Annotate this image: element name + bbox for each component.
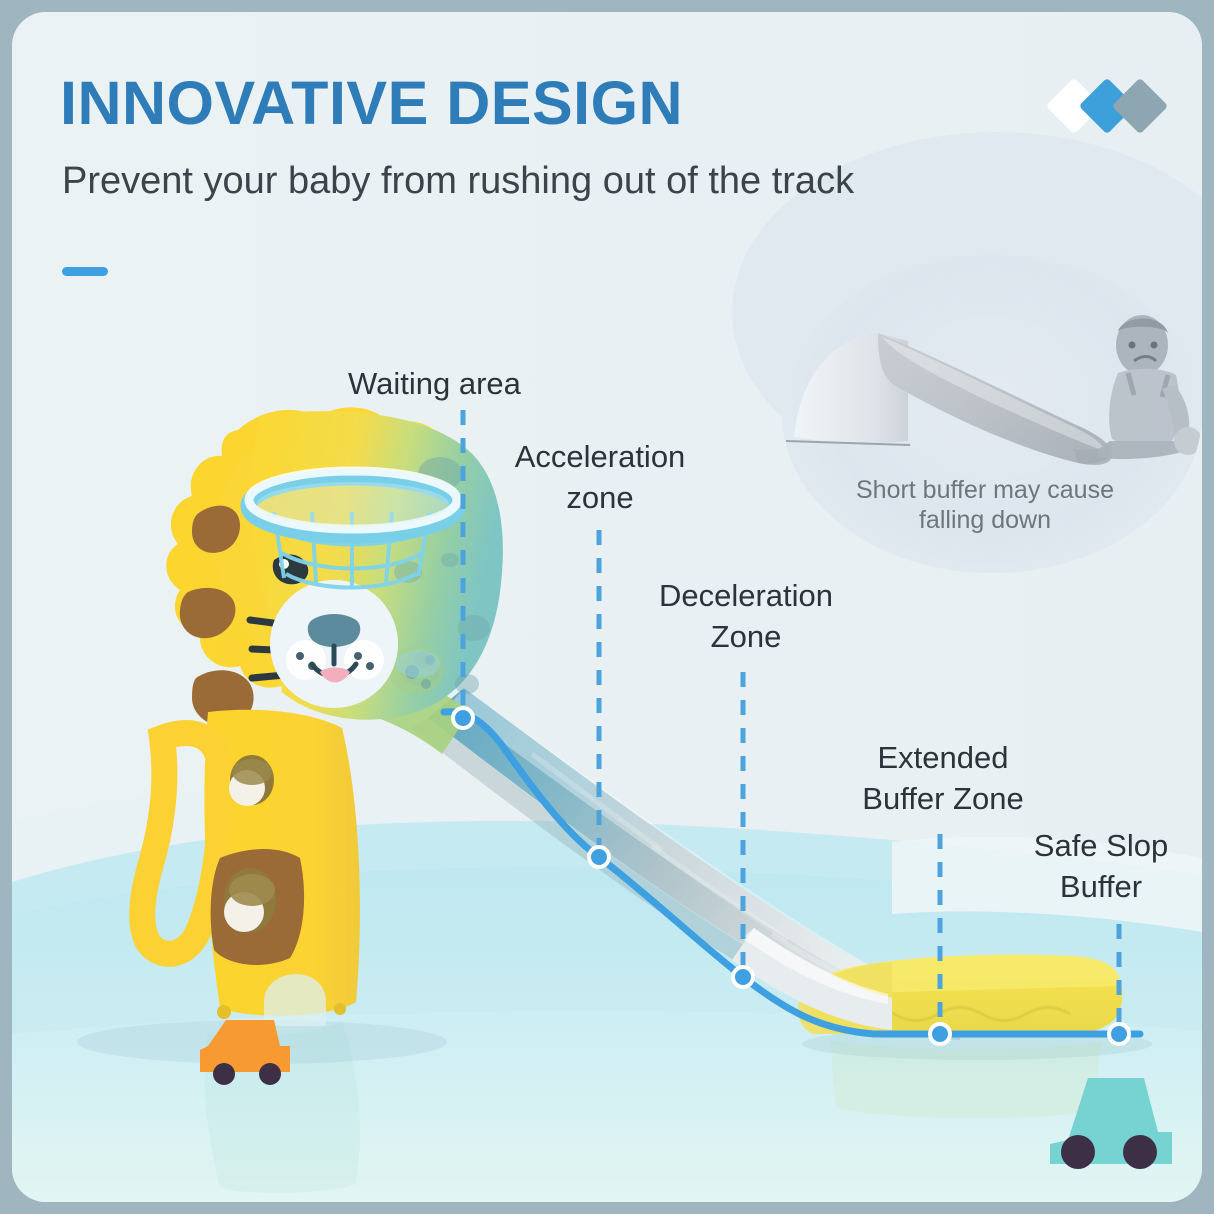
infographic-page: Short buffer may cause falling down bbox=[0, 0, 1214, 1214]
zone-label-safe-slop-buffer: Safe Slop Buffer bbox=[1012, 826, 1190, 908]
infographic-card: Short buffer may cause falling down bbox=[12, 12, 1202, 1202]
zone-label-acceleration: Acceleration zone bbox=[480, 437, 720, 519]
zone-label-extended-buffer: Extended Buffer Zone bbox=[832, 738, 1054, 820]
zone-label-waiting: Waiting area bbox=[348, 364, 521, 405]
zone-label-deceleration: Deceleration Zone bbox=[628, 576, 864, 658]
diamond-decoration bbox=[1061, 86, 1160, 126]
diamond-gray-icon bbox=[1112, 78, 1169, 135]
page-subtitle: Prevent your baby from rushing out of th… bbox=[62, 160, 854, 203]
header: INNOVATIVE DESIGN Prevent your baby from… bbox=[12, 12, 1202, 272]
page-title: INNOVATIVE DESIGN bbox=[60, 68, 683, 138]
accent-bar bbox=[62, 267, 108, 276]
